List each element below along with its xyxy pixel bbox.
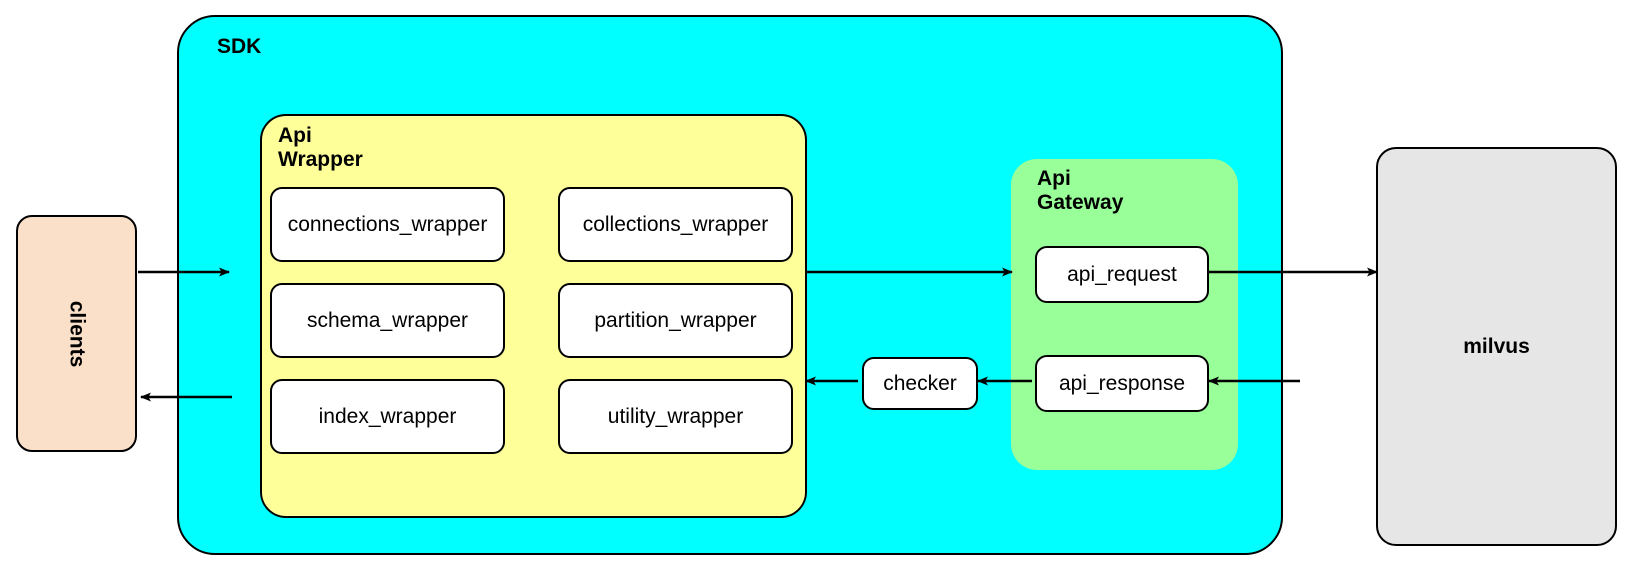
container-api-wrapper-title: Api Wrapper	[278, 124, 363, 171]
node-schema-wrapper[interactable]: schema_wrapper	[270, 283, 505, 358]
container-sdk[interactable]: SDK Api Wrapper connections_wrapper coll…	[177, 15, 1283, 555]
container-api-gateway-title: Api Gateway	[1037, 167, 1123, 214]
node-api-response[interactable]: api_response	[1035, 355, 1209, 412]
node-clients[interactable]: clients	[16, 215, 137, 452]
diagram-canvas: clients SDK Api Wrapper connections_wrap…	[0, 0, 1634, 574]
container-sdk-title: SDK	[217, 35, 261, 59]
node-collections-wrapper[interactable]: collections_wrapper	[558, 187, 793, 262]
node-milvus[interactable]: milvus	[1376, 147, 1617, 546]
node-utility-wrapper[interactable]: utility_wrapper	[558, 379, 793, 454]
node-milvus-label: milvus	[1463, 335, 1530, 359]
node-checker[interactable]: checker	[862, 357, 978, 410]
node-partition-wrapper[interactable]: partition_wrapper	[558, 283, 793, 358]
node-connections-wrapper[interactable]: connections_wrapper	[270, 187, 505, 262]
node-clients-label: clients	[65, 300, 89, 367]
node-api-request[interactable]: api_request	[1035, 246, 1209, 303]
container-api-wrapper[interactable]: Api Wrapper connections_wrapper collecti…	[260, 114, 807, 518]
container-api-gateway[interactable]: Api Gateway api_request api_response	[1011, 159, 1238, 470]
node-index-wrapper[interactable]: index_wrapper	[270, 379, 505, 454]
